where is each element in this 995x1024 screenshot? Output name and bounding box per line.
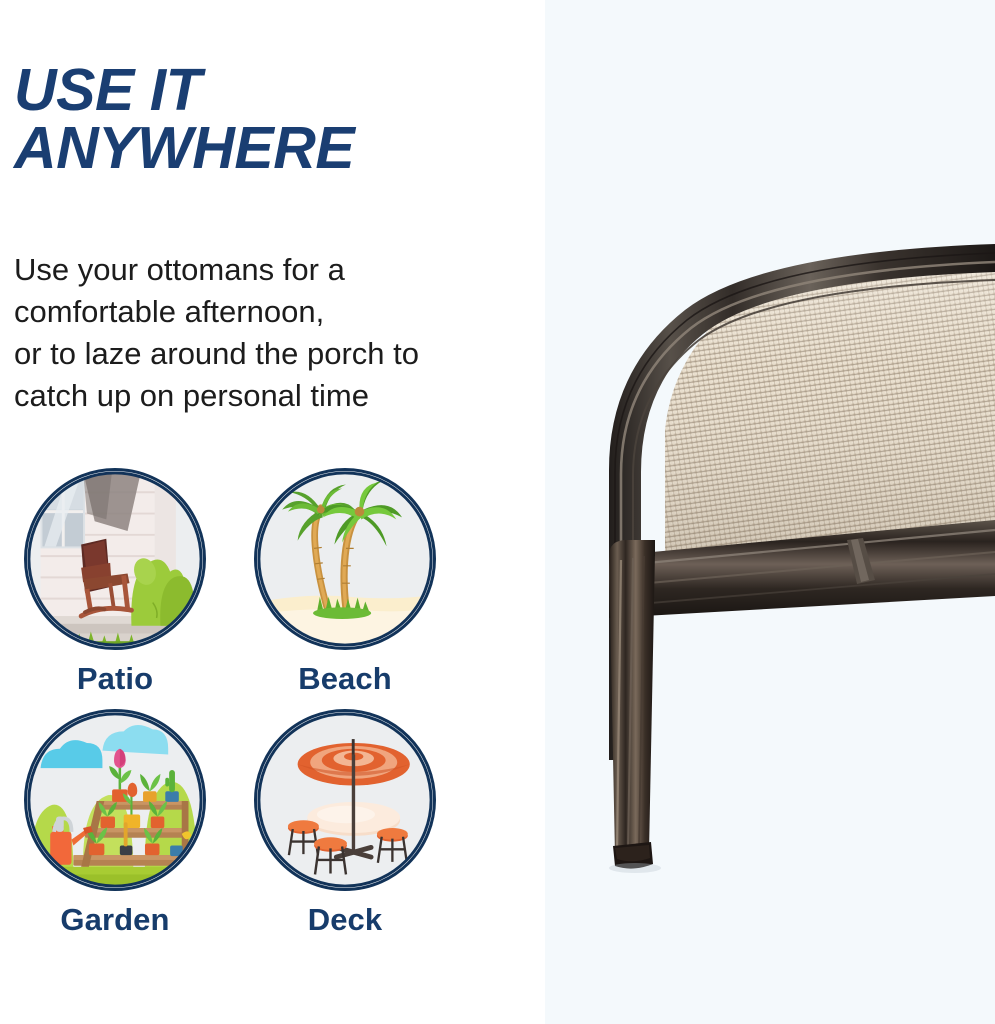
use-case-deck: Deck	[230, 709, 460, 938]
use-case-label: Beach	[298, 661, 392, 697]
marketing-infographic: USE IT ANYWHERE Use your ottomans for a …	[0, 0, 995, 1024]
plant-shelf-icon	[24, 709, 206, 891]
description-line-3: or to laze around the porch to	[14, 333, 526, 375]
headline-line-2: ANYWHERE	[14, 120, 524, 178]
use-case-grid: Patio	[0, 468, 460, 950]
left-content-panel: USE IT ANYWHERE Use your ottomans for a …	[0, 0, 545, 1024]
use-case-garden: Garden	[0, 709, 230, 938]
porch-rocking-chair-icon	[24, 468, 206, 650]
use-case-patio: Patio	[0, 468, 230, 697]
description-text: Use your ottomans for a comfortable afte…	[14, 249, 526, 418]
use-case-beach: Beach	[230, 468, 460, 697]
product-image-panel	[545, 0, 995, 1024]
use-case-row: Garden	[0, 709, 460, 938]
description-line-4: catch up on personal time	[14, 375, 526, 417]
ottoman-product-photo	[545, 0, 995, 1024]
patio-umbrella-table-icon	[254, 709, 436, 891]
description-line-1: Use your ottomans for a	[14, 249, 526, 291]
page-title: USE IT ANYWHERE	[14, 62, 524, 178]
use-case-label: Deck	[308, 902, 383, 938]
use-case-row: Patio	[0, 468, 460, 697]
headline-line-1: USE IT	[14, 62, 524, 120]
palm-trees-icon	[254, 468, 436, 650]
use-case-label: Patio	[77, 661, 153, 697]
description-line-2: comfortable afternoon,	[14, 291, 526, 333]
use-case-label: Garden	[60, 902, 169, 938]
